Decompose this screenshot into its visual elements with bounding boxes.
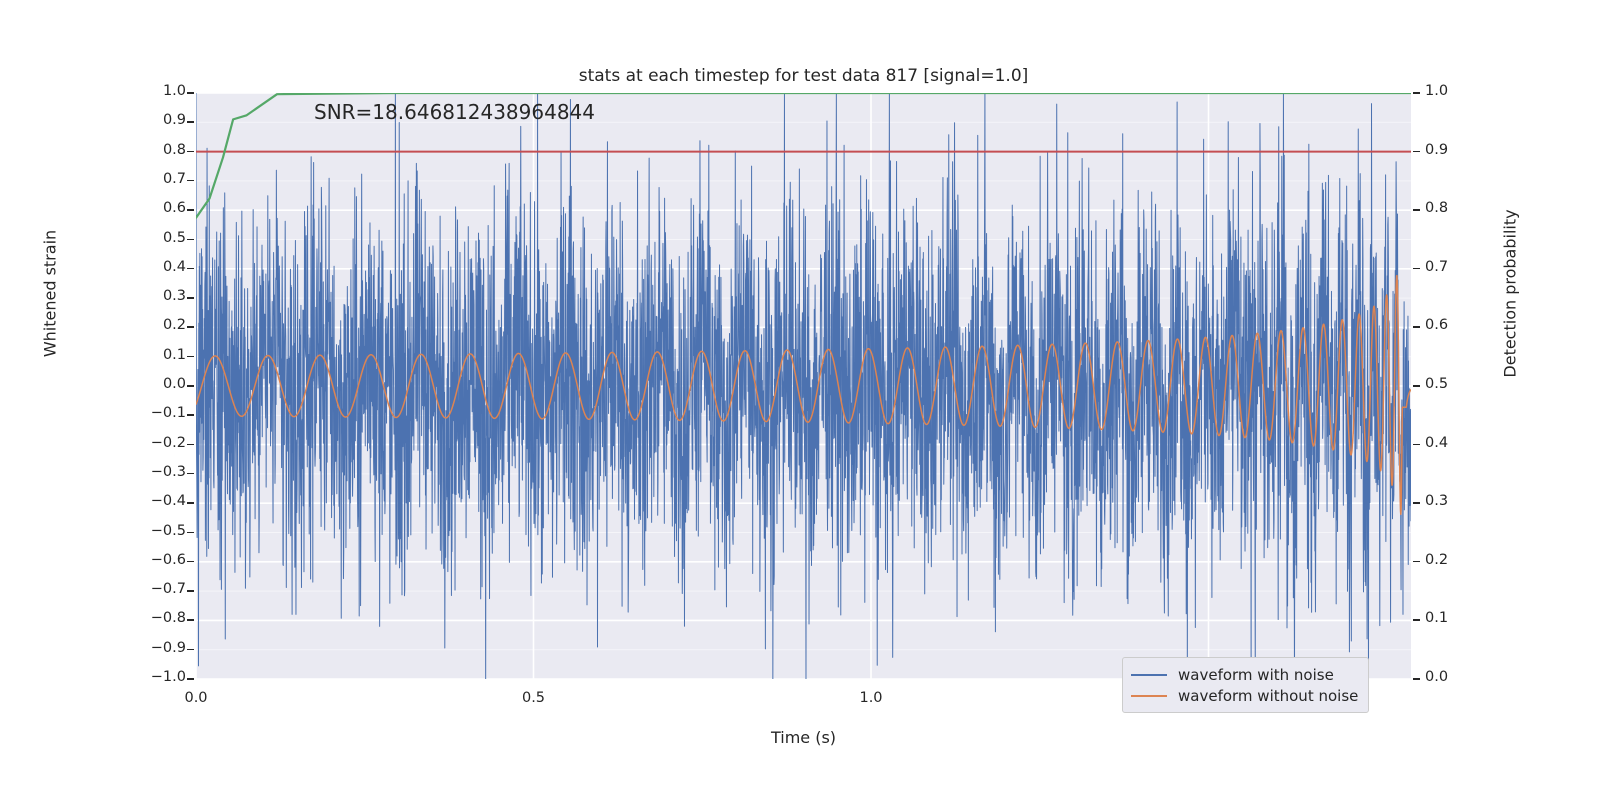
legend-label: waveform without noise	[1178, 687, 1358, 705]
x-axis-label: Time (s)	[196, 728, 1411, 747]
y-tick-label-left: 0.8	[126, 142, 186, 158]
y-tick-mark-right	[1413, 678, 1420, 680]
y-tick-mark-left	[187, 92, 194, 94]
y-tick-label-left: −0.4	[126, 493, 186, 509]
y-tick-mark-left	[187, 268, 194, 270]
legend-color-swatch-blue	[1131, 674, 1167, 676]
legend: waveform with noise waveform without noi…	[1122, 657, 1369, 713]
x-tick-label: 0.0	[156, 690, 236, 706]
y-tick-label-left: −0.5	[126, 523, 186, 539]
y-tick-mark-left	[187, 356, 194, 358]
y-tick-label-right: 0.8	[1425, 200, 1485, 216]
plot-canvas	[196, 93, 1411, 679]
figure-canvas: stats at each timestep for test data 817…	[0, 0, 1600, 800]
y-tick-mark-right	[1413, 209, 1420, 211]
y-tick-mark-right	[1413, 385, 1420, 387]
y-tick-mark-right	[1413, 502, 1420, 504]
page-title: stats at each timestep for test data 817…	[196, 66, 1411, 86]
y-tick-label-left: 0.6	[126, 200, 186, 216]
y-tick-label-left: −0.7	[126, 581, 186, 597]
y-tick-mark-left	[187, 619, 194, 621]
y-tick-label-right: 0.9	[1425, 142, 1485, 158]
y-tick-mark-left	[187, 209, 194, 211]
y-tick-mark-left	[187, 326, 194, 328]
y-tick-mark-right	[1413, 619, 1420, 621]
y-tick-mark-right	[1413, 561, 1420, 563]
y-tick-mark-left	[187, 151, 194, 153]
y-tick-label-right: 0.4	[1425, 435, 1485, 451]
y-tick-mark-right	[1413, 268, 1420, 270]
y-tick-mark-left	[187, 385, 194, 387]
y-tick-label-left: −0.6	[126, 552, 186, 568]
y-tick-label-left: 0.3	[126, 288, 186, 304]
y-tick-label-left: −0.2	[126, 435, 186, 451]
x-tick-label: 0.5	[494, 690, 574, 706]
y-tick-label-left: −0.3	[126, 464, 186, 480]
y-tick-label-right: 0.6	[1425, 317, 1485, 333]
legend-color-swatch-orange	[1131, 695, 1167, 697]
y-tick-mark-right	[1413, 151, 1420, 153]
y-tick-label-right: 0.5	[1425, 376, 1485, 392]
y-tick-label-left: −1.0	[126, 669, 186, 685]
y-tick-mark-right	[1413, 326, 1420, 328]
y-tick-label-left: 1.0	[126, 83, 186, 99]
y-tick-label-right: 0.2	[1425, 552, 1485, 568]
x-tick-label: 1.0	[831, 690, 911, 706]
y-axis-label-right: Detection probability	[1501, 184, 1520, 404]
y-tick-mark-right	[1413, 92, 1420, 94]
y-tick-label-left: 0.4	[126, 259, 186, 275]
legend-label: waveform with noise	[1178, 666, 1334, 684]
y-tick-label-left: 0.5	[126, 230, 186, 246]
y-tick-label-left: 0.7	[126, 171, 186, 187]
y-tick-mark-left	[187, 121, 194, 123]
y-tick-label-right: 1.0	[1425, 83, 1485, 99]
y-tick-mark-left	[187, 239, 194, 241]
legend-item-with-noise: waveform with noise	[1131, 664, 1358, 685]
y-tick-label-left: 0.2	[126, 317, 186, 333]
y-tick-label-left: 0.1	[126, 347, 186, 363]
y-tick-label-left: −0.1	[126, 405, 186, 421]
snr-annotation: SNR=18.646812438964844	[314, 100, 595, 124]
y-tick-mark-right	[1413, 444, 1420, 446]
y-tick-mark-left	[187, 561, 194, 563]
y-tick-mark-left	[187, 502, 194, 504]
y-tick-label-right: 0.1	[1425, 610, 1485, 626]
plot-area	[196, 93, 1411, 679]
y-tick-label-right: 0.0	[1425, 669, 1485, 685]
y-tick-mark-left	[187, 532, 194, 534]
y-tick-mark-left	[187, 473, 194, 475]
y-tick-mark-left	[187, 180, 194, 182]
y-tick-label-left: 0.0	[126, 376, 186, 392]
y-tick-mark-left	[187, 444, 194, 446]
y-tick-label-left: −0.8	[126, 610, 186, 626]
y-tick-mark-left	[187, 649, 194, 651]
y-tick-mark-left	[187, 590, 194, 592]
y-tick-label-right: 0.7	[1425, 259, 1485, 275]
y-tick-label-left: −0.9	[126, 640, 186, 656]
y-axis-label-left: Whitened strain	[41, 184, 60, 404]
y-tick-label-right: 0.3	[1425, 493, 1485, 509]
y-tick-mark-left	[187, 414, 194, 416]
legend-item-without-noise: waveform without noise	[1131, 685, 1358, 706]
y-tick-mark-left	[187, 297, 194, 299]
y-tick-label-left: 0.9	[126, 112, 186, 128]
y-tick-mark-left	[187, 678, 194, 680]
